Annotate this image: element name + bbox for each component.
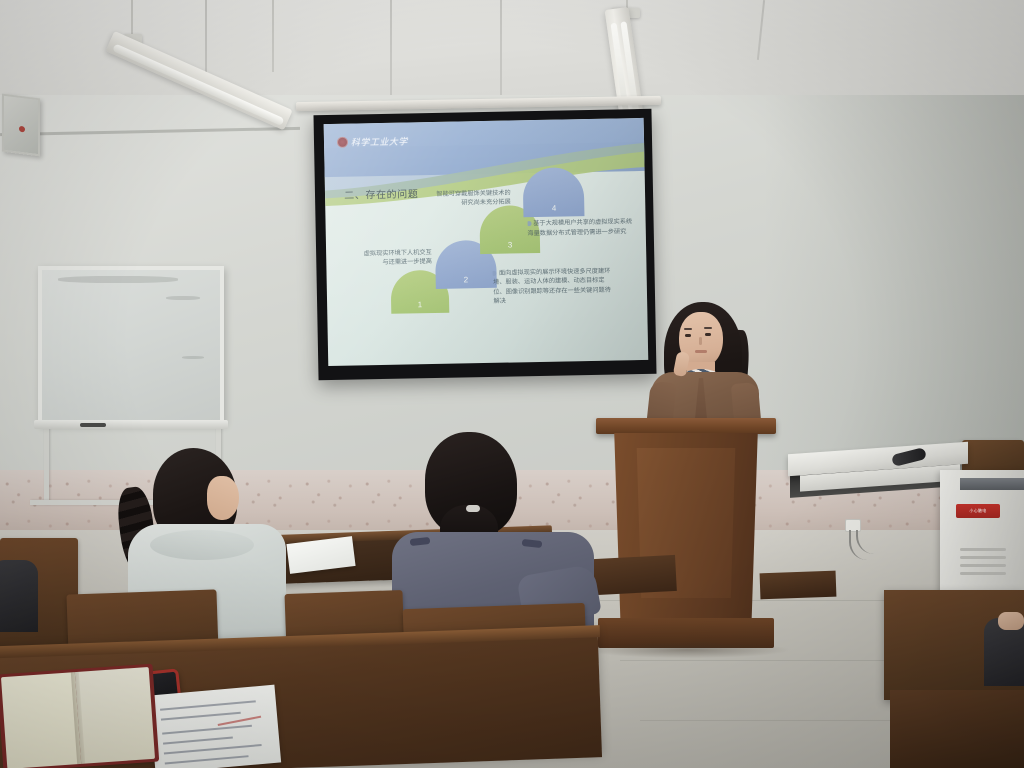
whiteboard-smudge — [58, 276, 178, 283]
seated-person-hand — [998, 612, 1024, 630]
slide-bullet-text: 虚拟现实环境下人机交互与还需进一步提高 — [358, 248, 432, 269]
slide-bullet-1: 虚拟现实环境下人机交互与还需进一步提高 — [358, 248, 432, 269]
light-suspension-rod — [131, 0, 133, 36]
presenter-nose — [699, 337, 702, 345]
cabinet-top-panel — [960, 478, 1024, 490]
cabinet-vent — [960, 564, 1006, 567]
speaker-led-icon — [19, 126, 25, 133]
slide-bullet-4: 基于大规模用户共享的虚拟现实系统海量数据分布式管理仍需进一步研究 — [527, 217, 636, 238]
slide-bullet-text: 面向虚拟现实的展示环境快速多尺度建环境、服装、运动人体的建模、动态目标定位、图像… — [493, 267, 611, 305]
slide-bullet-text: 基于大规模用户共享的虚拟现实系统海量数据分布式管理仍需进一步研究 — [527, 218, 632, 237]
notebook-page-left — [1, 672, 81, 768]
presenter-eye — [705, 333, 711, 336]
slide-shape-number: 3 — [508, 241, 513, 250]
whiteboard-marker-tray — [34, 420, 228, 429]
seated-person-left — [0, 560, 38, 632]
open-notebook[interactable] — [1, 667, 155, 768]
ceiling-seam — [390, 0, 392, 96]
slide-bullet-2: 面向虚拟现实的展示环境快速多尺度建环境、服装、运动人体的建模、动态目标定位、图像… — [493, 266, 615, 307]
projection-screen: 科学工业大学 二、存在的问题 1 2 3 4 虚拟现实环境下人机交互与还需进一步… — [313, 109, 656, 380]
bench-seat — [760, 571, 837, 600]
whiteboard-smudge — [166, 296, 200, 300]
whiteboard-marker[interactable] — [80, 423, 106, 427]
university-seal-icon — [337, 137, 348, 148]
paper-line — [163, 736, 233, 744]
paper-line — [162, 725, 252, 734]
bullet-marker-icon — [493, 270, 497, 275]
university-name: 科学工业大学 — [351, 135, 408, 149]
whiteboard[interactable] — [38, 266, 224, 424]
slide-shape-number: 4 — [552, 203, 557, 212]
classroom-scene: 科学工业大学 二、存在的问题 1 2 3 4 虚拟现实环境下人机交互与还需进一步… — [0, 0, 1024, 768]
presenter-eye — [685, 334, 691, 337]
warning-label: 小心触电 — [956, 504, 1000, 518]
paper-line-red — [218, 716, 261, 726]
notebook-page-right — [75, 667, 155, 764]
light-suspension-rod — [272, 0, 274, 72]
presenter-mouth — [695, 350, 707, 353]
bullet-marker-icon — [527, 221, 531, 226]
slide-shape-number: 1 — [418, 300, 423, 309]
cabinet-vent — [960, 572, 1006, 575]
slide-bullet-3: 智能可穿戴服饰关键技术的研究尚未充分拓展 — [434, 188, 511, 209]
whiteboard-smudge — [182, 356, 204, 359]
cabinet-vent — [960, 548, 1006, 551]
right-desk-lower — [890, 690, 1024, 768]
hoodie-hood — [150, 530, 254, 560]
hair-tie — [466, 505, 480, 512]
student-1-face — [207, 476, 239, 520]
slide-shape-number: 2 — [464, 275, 469, 284]
paper-line — [160, 700, 256, 710]
paper-line — [161, 712, 241, 720]
podium-floor-shadow — [588, 642, 788, 658]
slide-logo: 科学工业大学 — [337, 135, 408, 149]
ceiling-seam — [205, 0, 207, 78]
handwritten-papers[interactable] — [149, 685, 281, 768]
paper-line — [165, 755, 249, 764]
paper-line — [164, 744, 262, 754]
wall-speaker-icon — [2, 94, 40, 157]
cabinet-vent — [960, 556, 1006, 559]
presenter-eyebrow — [684, 328, 692, 330]
presenter-eyebrow — [704, 327, 712, 329]
presentation-slide: 科学工业大学 二、存在的问题 1 2 3 4 虚拟现实环境下人机交互与还需进一步… — [324, 118, 649, 366]
ceiling-seam — [500, 0, 502, 104]
slide-title: 二、存在的问题 — [344, 185, 418, 201]
podium-top-surface — [596, 418, 776, 434]
slide-bullet-text: 智能可穿戴服饰关键技术的研究尚未充分拓展 — [434, 188, 511, 209]
